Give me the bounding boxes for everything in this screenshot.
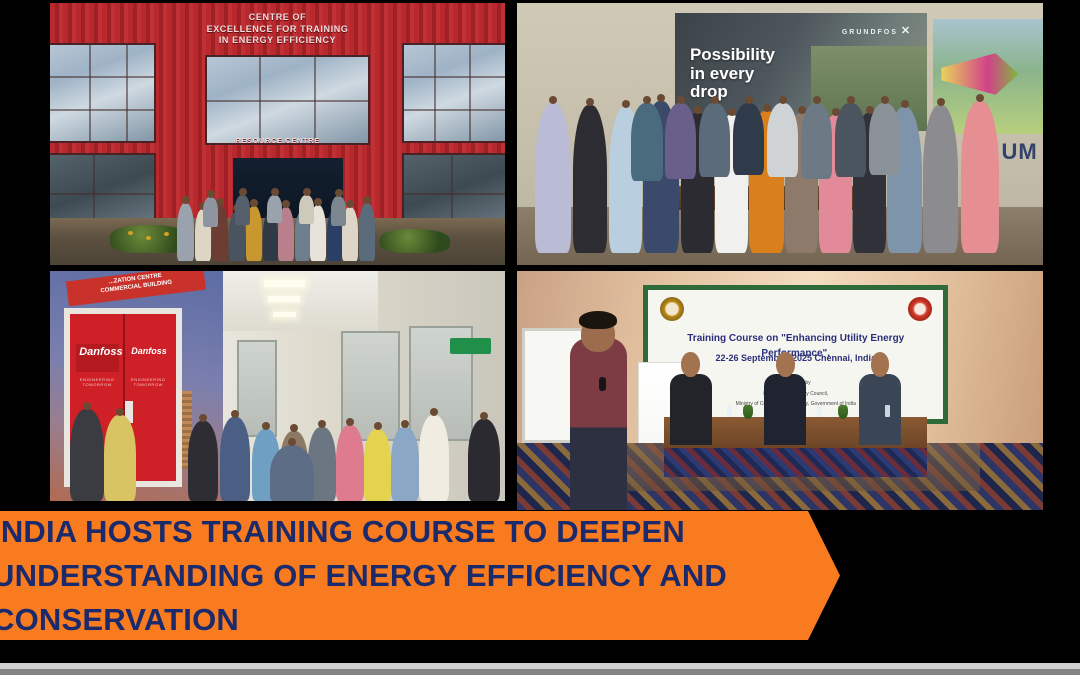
corridor-scene: ...ZATION CENTRE COMMERCIAL BUILDING Dan… [50,271,505,501]
speaker-head [581,316,615,352]
facade-window-left-upper [50,43,156,143]
water-bottle-2 [817,405,822,417]
ceiling-light-3 [273,312,296,317]
resource-centre-sign: RESOURCE CENTRE [50,136,505,146]
mural-label: ...ZATION CENTRE COMMERCIAL BUILDING [66,271,206,307]
panelist-2 [764,374,806,446]
water-bottle-3 [885,405,890,417]
building-sign-line3: IN ENERGY EFFICIENCY [50,35,505,47]
ceiling-light-2 [268,296,300,302]
panelist-3 [859,374,901,446]
photo-centre-of-excellence-building: CENTRE OF EXCELLENCE FOR TRAINING IN ENE… [50,3,505,265]
building-sign-line1: CENTRE OF [50,12,505,24]
facade-window-right-lower [402,153,505,225]
ceiling-light-1 [264,280,305,287]
table-plant-2 [838,405,848,419]
facade-window-centre-upper [205,55,370,145]
corridor-visitors [70,366,500,501]
grundfos-logo: GRUNDFOS✕ [842,24,912,37]
slide-canvas: CENTRE OF EXCELLENCE FOR TRAINING IN ENE… [0,0,1080,675]
headline-line-1: INDIA HOSTS TRAINING COURSE TO DEEPEN [0,510,727,554]
table-skirt [664,445,927,476]
exit-sign-icon [450,338,491,354]
npc-emblem-icon [660,297,684,321]
panelist-1 [670,374,712,446]
danfoss-wordmark-left: Danfoss [79,346,122,358]
group-photo-people [531,78,1031,253]
slide-headline-line1: Possibility [690,46,775,64]
headline-text-block: INDIA HOSTS TRAINING COURSE TO DEEPEN UN… [0,510,727,642]
danfoss-wordmark-right: Danfoss [131,346,167,356]
building-sign-line2: EXCELLENCE FOR TRAINING [50,24,505,36]
partner-emblem-icon [908,297,932,321]
photo-inaugural-session: Training Course on "Enhancing Utility En… [517,271,1043,510]
facade-window-left-lower [50,153,156,225]
photo-collage: CENTRE OF EXCELLENCE FOR TRAINING IN ENE… [0,0,1080,512]
window-chrome-dark-strip[interactable] [0,669,1080,675]
photo-group-auditorium: GRUNDFOS✕ Possibility in every drop UM [517,3,1043,265]
participants-group [175,183,395,261]
building-scene: CENTRE OF EXCELLENCE FOR TRAINING IN ENE… [50,3,505,265]
headline-line-3: CONSERVATION [0,598,727,642]
microphone-icon [599,377,606,391]
building-signage-block: CENTRE OF EXCELLENCE FOR TRAINING IN ENE… [50,12,505,47]
facade-window-right-upper [402,43,505,143]
speaker-at-microphone [570,338,628,510]
headline-banner: INDIA HOSTS TRAINING COURSE TO DEEPEN UN… [0,511,840,640]
headline-line-2: UNDERSTANDING OF ENERGY EFFICIENCY AND [0,554,727,598]
water-bottle-1 [727,405,732,417]
photo-danfoss-corridor: ...ZATION CENTRE COMMERCIAL BUILDING Dan… [50,271,505,501]
auditorium-scene: GRUNDFOS✕ Possibility in every drop UM [517,3,1043,265]
inaugural-scene: Training Course on "Enhancing Utility En… [517,271,1043,510]
